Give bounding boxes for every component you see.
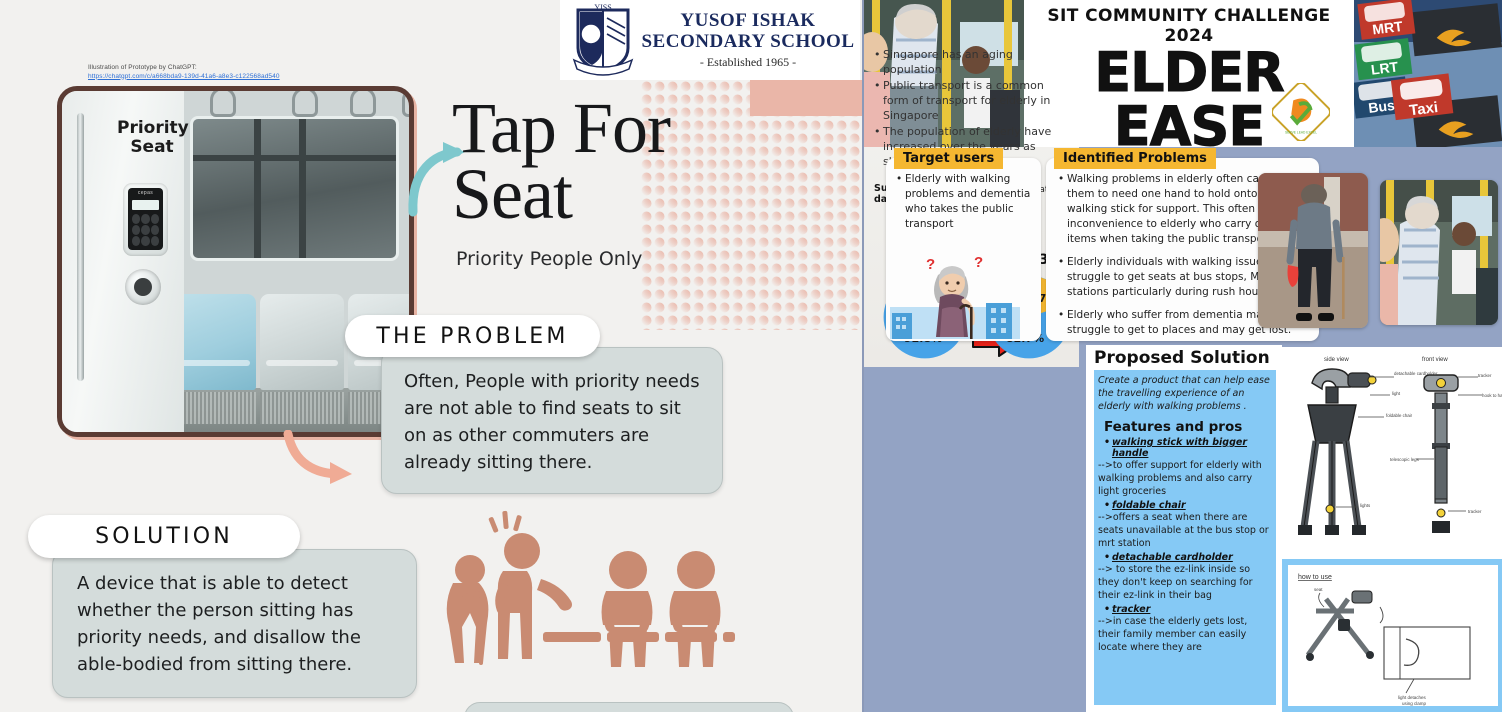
left-poster: Illustration of Prototype by ChatGPT: ht…	[0, 0, 862, 712]
mrt-signage-photo: MRT LRT Bus Taxi	[1354, 0, 1502, 147]
identified-problems-tag: Identified Problems	[1054, 148, 1216, 169]
svg-text:lights: lights	[1360, 503, 1371, 508]
seat-grey	[260, 294, 344, 390]
question-mark-icon: ?	[974, 254, 983, 271]
right-poster: SIT COMMUNITY CHALLENGE 2024 ELDER EASE …	[862, 0, 1502, 712]
svg-text:YISS: YISS	[594, 4, 611, 12]
problem-callout: Often, People with priority needs are no…	[381, 347, 723, 494]
sls-badge-icon: SERVE LEAD EXCEL	[1272, 83, 1330, 141]
feature-desc-walking-stick: -->to offer support for elderly with wal…	[1098, 459, 1272, 498]
credit-text: Illustration of Prototype by ChatGPT:	[88, 64, 197, 71]
school-header: YISS YUSOF ISHAK SECONDARY SCHOOL - Esta…	[560, 0, 860, 80]
hand-loop-icon	[350, 87, 376, 117]
solution-callout: A device that is able to detect whether …	[52, 549, 417, 698]
page-subtitle: Priority People Only	[456, 248, 642, 270]
solution-body: A device that is able to detect whether …	[77, 570, 392, 678]
feature-name-walking-stick: walking stick with bigger handle	[1112, 437, 1272, 459]
elderly-woman-illustration: ? ?	[890, 247, 1020, 339]
sign-label-lrt: LRT	[1370, 58, 1399, 77]
hand-loop-icon	[402, 87, 414, 117]
feature-name-foldable-chair: foldable chair	[1112, 500, 1272, 511]
reader-brand-label: cepas	[128, 190, 163, 196]
solution-heading: SOLUTION	[28, 515, 300, 558]
feature-desc-cardholder: --> to store the ez-link inside so they …	[1098, 563, 1272, 602]
school-name-line2: SECONDARY SCHOOL	[641, 31, 854, 52]
list-item: Singapore has an aging population	[874, 47, 1069, 77]
people-pictogram	[425, 505, 755, 680]
svg-text:hook to hang light groceries: hook to hang light groceries	[1482, 393, 1502, 398]
elderly-man-cane-photo	[1258, 173, 1368, 328]
proposed-solution-intro: Create a product that can help ease the …	[1098, 374, 1272, 413]
credit-url[interactable]: https://chatgpt.com/c/a668bda9-139d-41a6…	[88, 73, 358, 82]
target-users-card: Elderly with walking problems and dement…	[886, 158, 1041, 341]
svg-text:foldable chair: foldable chair	[1386, 413, 1413, 418]
svg-text:light detaches: light detaches	[1398, 695, 1427, 700]
svg-text:SERVE LEAD EXCEL: SERVE LEAD EXCEL	[1285, 130, 1317, 134]
prototype-credit: Illustration of Prototype by ChatGPT: ht…	[88, 64, 358, 81]
sign-label-taxi: Taxi	[1408, 99, 1439, 119]
prototype-photo: PrioritySeat cepas	[57, 86, 414, 437]
handrail	[77, 113, 84, 381]
hand-loop-icon	[210, 87, 236, 117]
svg-text:using clamp: using clamp	[1402, 701, 1427, 706]
feature-name-tracker: tracker	[1112, 604, 1272, 615]
reader-screen	[132, 200, 159, 210]
sign-label-bus: Bus	[1367, 97, 1395, 116]
product-sketch-views: side view front view	[1282, 347, 1502, 559]
reader-tap-button[interactable]	[125, 269, 161, 305]
priority-seat-label: PrioritySeat	[117, 119, 187, 157]
svg-text:detachable cardholder: detachable cardholder	[1394, 371, 1438, 376]
partial-callout-bottom	[464, 702, 794, 712]
bus-crowd-photo	[1380, 180, 1498, 325]
problem-body: Often, People with priority needs are no…	[404, 368, 700, 476]
question-mark-icon: ?	[926, 256, 935, 273]
challenge-label: SIT COMMUNITY CHALLENGE 2024	[1024, 6, 1354, 46]
svg-text:light: light	[1392, 391, 1401, 396]
train-window	[190, 116, 399, 261]
poster-screenshot: Illustration of Prototype by ChatGPT: ht…	[0, 0, 1502, 712]
feature-desc-foldable-chair: -->offers a seat when there are seats un…	[1098, 511, 1272, 550]
reader-keypad[interactable]	[132, 214, 159, 246]
card-reader-device: cepas	[123, 183, 168, 256]
how-to-use-panel: how to use seat light detaches using cla…	[1282, 559, 1502, 712]
feature-name-cardholder: detachable cardholder	[1112, 552, 1272, 563]
list-item: Elderly with walking problems and dement…	[896, 172, 1031, 232]
svg-text:tracker: tracker	[1468, 509, 1482, 514]
target-users-list: Elderly with walking problems and dement…	[896, 172, 1031, 232]
proposed-solution-title: Proposed Solution	[1094, 348, 1276, 368]
svg-text:telescopic legs: telescopic legs	[1390, 457, 1420, 462]
svg-text:seat: seat	[1314, 587, 1323, 592]
problem-heading: THE PROBLEM	[345, 315, 600, 357]
target-users-tag: Target users	[894, 148, 1003, 169]
peach-arrow-icon	[280, 430, 360, 485]
features-heading: Features and pros	[1104, 419, 1272, 435]
sketch-label-how-to-use: how to use	[1298, 574, 1332, 581]
proposed-solution-card: Proposed Solution Create a product that …	[1086, 345, 1282, 712]
school-crest-icon: YISS	[570, 4, 636, 76]
header-titles: SIT COMMUNITY CHALLENGE 2024 ELDER EASE …	[1024, 0, 1354, 147]
school-established: - Established 1965 -	[636, 55, 860, 70]
svg-text:tracker: tracker	[1478, 373, 1492, 378]
hand-loop-icon	[292, 87, 318, 117]
feature-desc-tracker: -->in case the elderly gets lost, their …	[1098, 615, 1272, 654]
sketch-label-front-view: front view	[1422, 357, 1448, 363]
school-name-line1: YUSOF ISHAK	[680, 10, 815, 31]
seat-blue	[172, 294, 256, 390]
sketch-label-side-view: side view	[1324, 357, 1349, 363]
list-item: Public transport is a common form of tra…	[874, 78, 1069, 123]
page-title: Tap ForSeat	[452, 95, 852, 227]
